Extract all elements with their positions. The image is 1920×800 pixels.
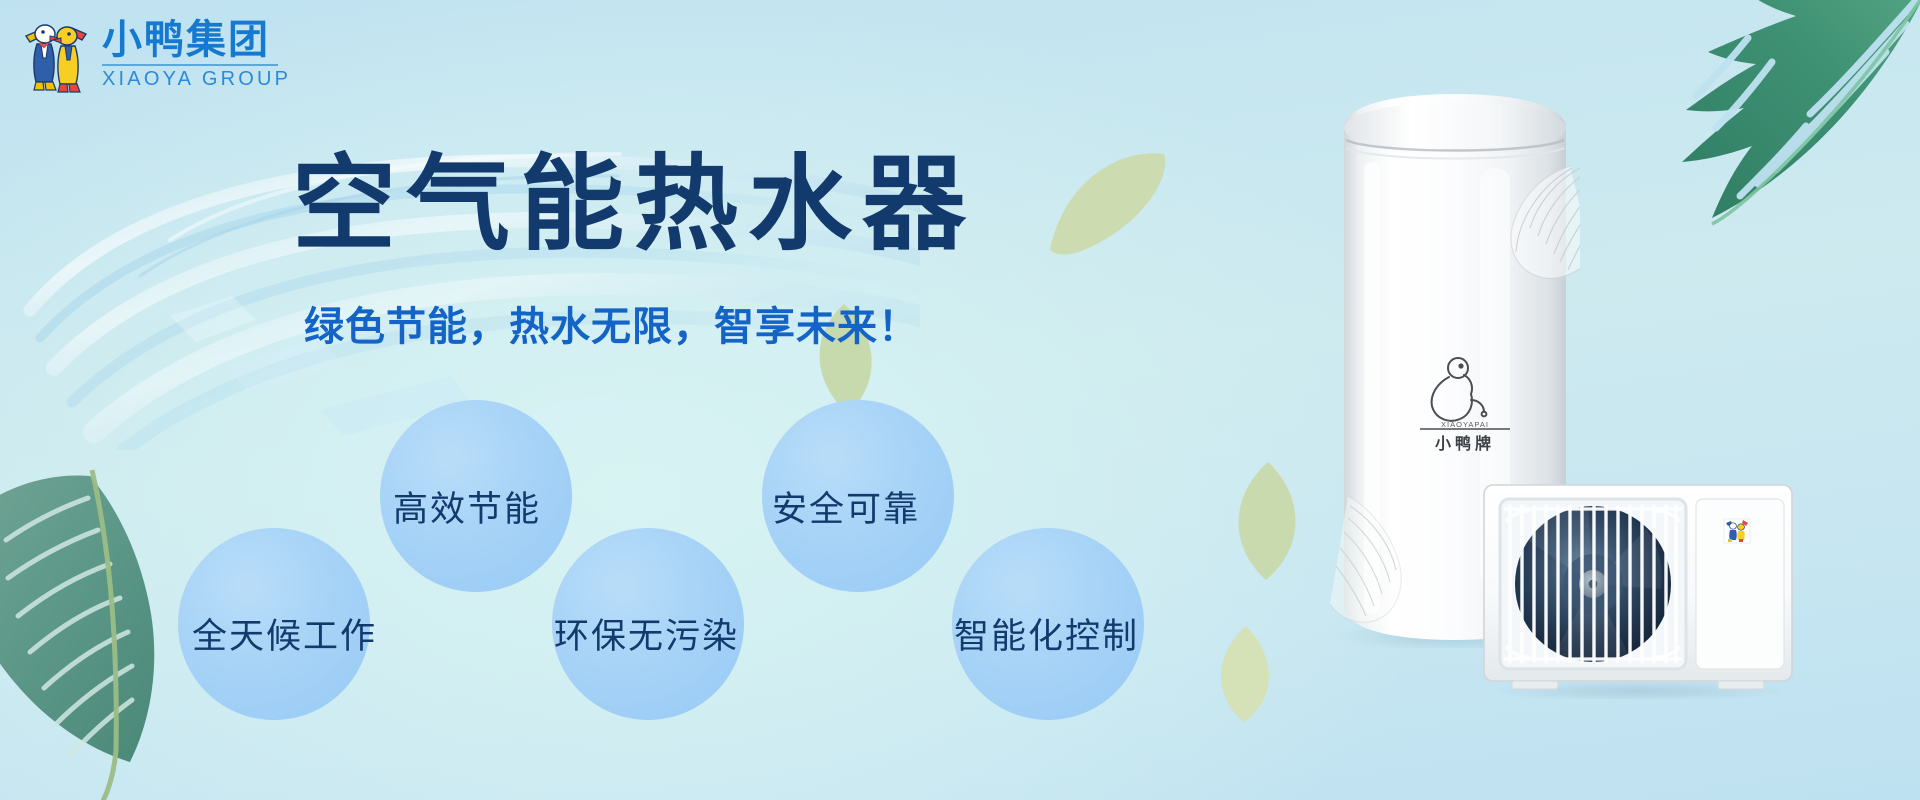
feature-label-anquan-kekao: 安全可靠 <box>772 481 920 532</box>
logo-company-name-cn: 小鸭集团 <box>102 19 270 61</box>
page-title: 空气能热水器 <box>292 148 976 260</box>
floating-leaf-shape-4 <box>1196 622 1292 726</box>
floating-leaf-shape-1 <box>1040 132 1180 262</box>
svg-text:小鸭牌: 小鸭牌 <box>1435 434 1495 453</box>
duck-mascot-badge-icon <box>1724 519 1750 543</box>
page-subtitle: 绿色节能，热水无限，智享未来！ <box>304 294 976 352</box>
promo-banner: 小鸭集团 XIAOYA GROUP 空气能热水器 绿色节能，热水无限，智享未来！… <box>0 0 1920 800</box>
feature-label-huanbao-wuwuran: 环保无污染 <box>554 608 739 659</box>
brand-logo[interactable]: 小鸭集团 XIAOYA GROUP <box>20 14 291 96</box>
floating-leaf-shape-3 <box>1206 456 1326 586</box>
logo-divider <box>102 64 278 66</box>
logo-company-name-en: XIAOYA GROUP <box>102 68 291 91</box>
feature-label-zhinenghua-kongzhi: 智能化控制 <box>954 608 1139 659</box>
headline-block: 空气能热水器 绿色节能，热水无限，智享未来！ <box>292 148 976 352</box>
feature-label-gaoxiao-jieneng: 高效节能 <box>393 481 541 532</box>
duck-mascot-pair-icon <box>20 14 92 96</box>
feature-label-quantianhou-gongzuo: 全天候工作 <box>192 608 377 659</box>
svg-text:XIAOYAPAI: XIAOYAPAI <box>1441 420 1489 429</box>
heat-pump-outdoor-unit-icon <box>1478 477 1798 699</box>
monstera-leaf-icon <box>1620 0 1920 260</box>
